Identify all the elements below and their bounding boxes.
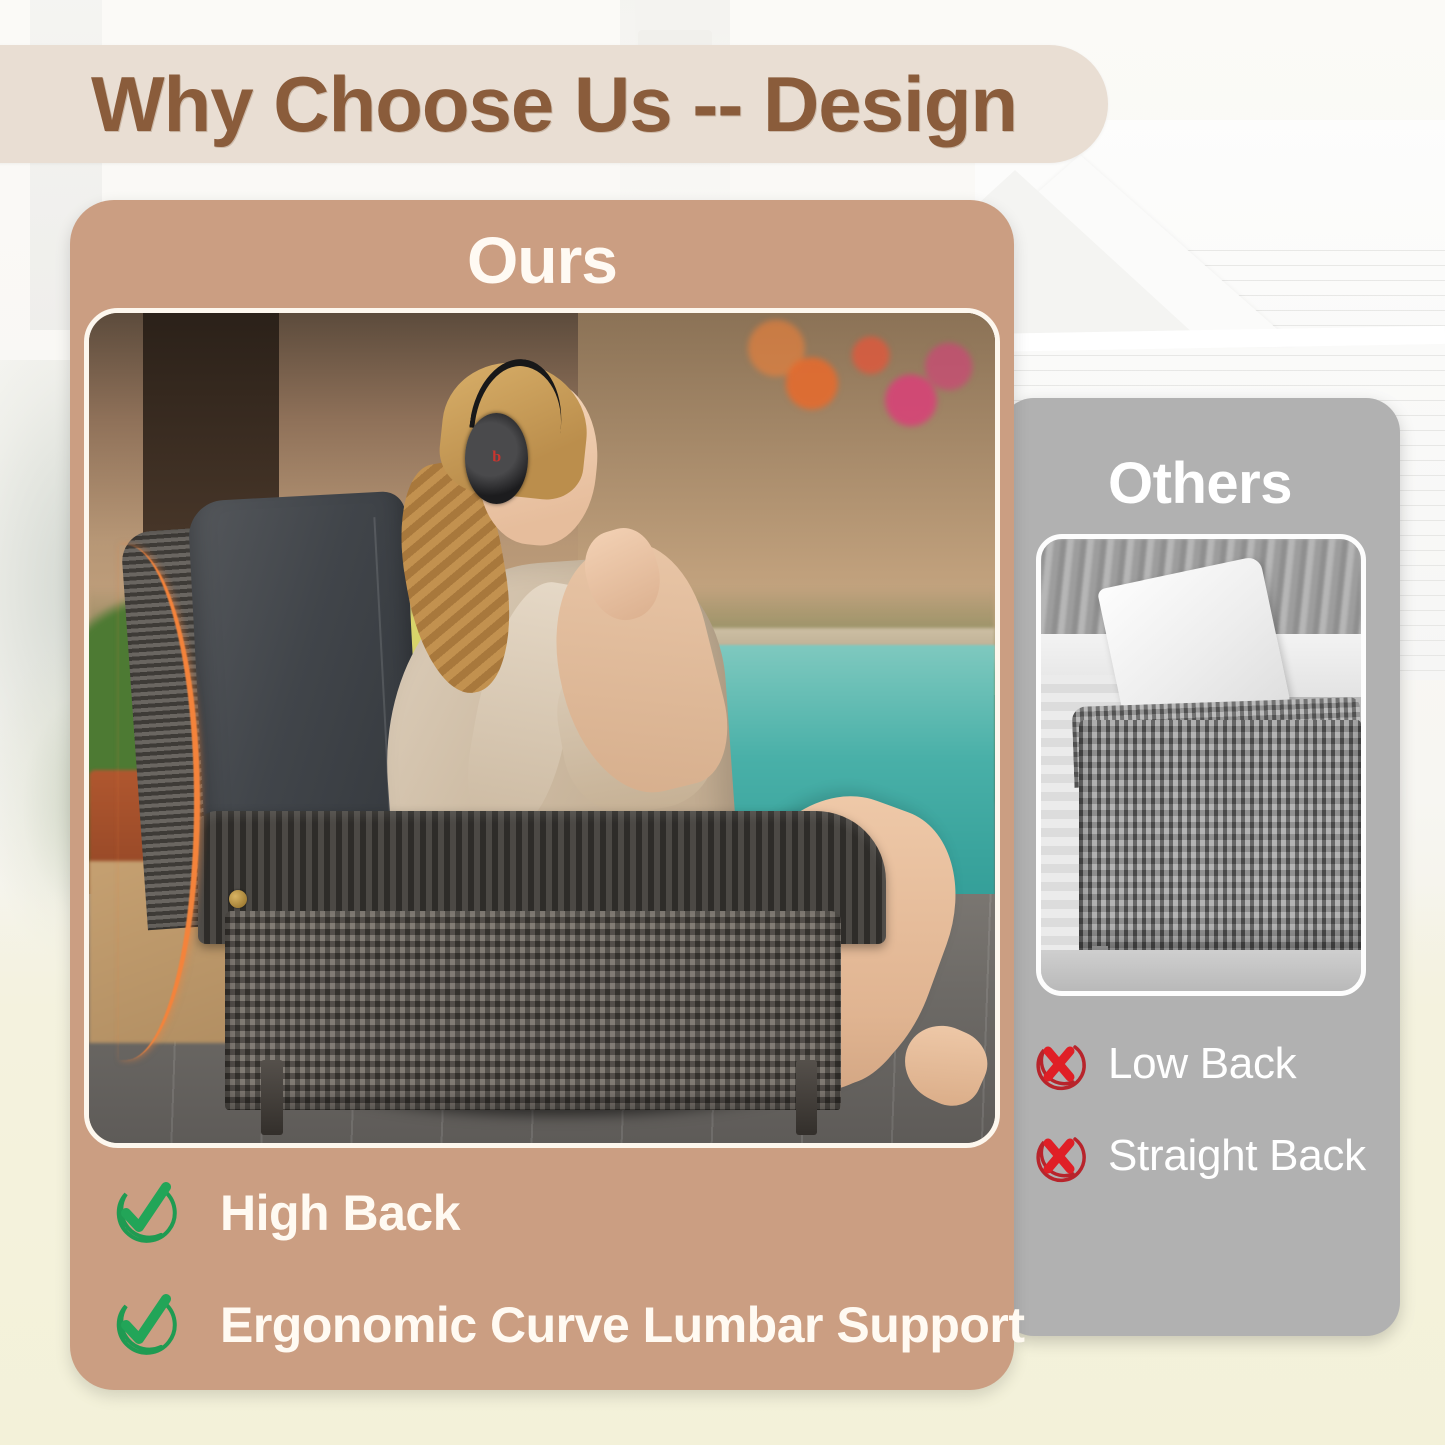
others-panel: Others: [1000, 398, 1400, 1336]
photo-sofa-foot-right: [796, 1060, 818, 1135]
list-item-label: High Back: [220, 1184, 460, 1242]
ours-panel: Ours: [70, 200, 1014, 1390]
photo-blossoms: [741, 313, 977, 454]
cross-circle-icon: [1028, 1033, 1090, 1095]
list-item: Straight Back: [1028, 1125, 1388, 1187]
check-circle-icon: [106, 1287, 182, 1363]
headphones-earcup-icon: [465, 413, 528, 504]
list-item: High Back: [106, 1175, 986, 1251]
list-item: Ergonomic Curve Lumbar Support: [106, 1287, 986, 1363]
list-item: Low Back: [1028, 1033, 1388, 1095]
list-item-label: Straight Back: [1108, 1131, 1366, 1181]
others-photo-scene: [1041, 539, 1361, 991]
list-item-label: Ergonomic Curve Lumbar Support: [220, 1296, 1025, 1354]
cross-circle-icon: [1028, 1125, 1090, 1187]
infographic-root: Why Choose Us -- Design Others: [0, 0, 1445, 1445]
ours-photo-scene: [89, 313, 995, 1143]
ours-product-photo: [84, 308, 1000, 1148]
header-banner: Why Choose Us -- Design: [0, 45, 1108, 163]
ours-bullet-list: High Back Ergonomic Curve Lumbar Support: [106, 1175, 986, 1399]
ours-title: Ours: [70, 222, 1014, 298]
others-photo-sofa-body: [1079, 720, 1361, 955]
list-item-label: Low Back: [1108, 1039, 1296, 1089]
check-circle-icon: [106, 1175, 182, 1251]
others-product-photo: [1036, 534, 1366, 996]
photo-sofa-foot-left: [261, 1060, 283, 1135]
page-title: Why Choose Us -- Design: [51, 59, 1017, 150]
others-title: Others: [1000, 450, 1400, 517]
others-bullet-list: Low Back Straight Back: [1028, 1033, 1388, 1217]
photo-sofa-body: [225, 911, 841, 1110]
others-photo-ground: [1041, 950, 1361, 991]
